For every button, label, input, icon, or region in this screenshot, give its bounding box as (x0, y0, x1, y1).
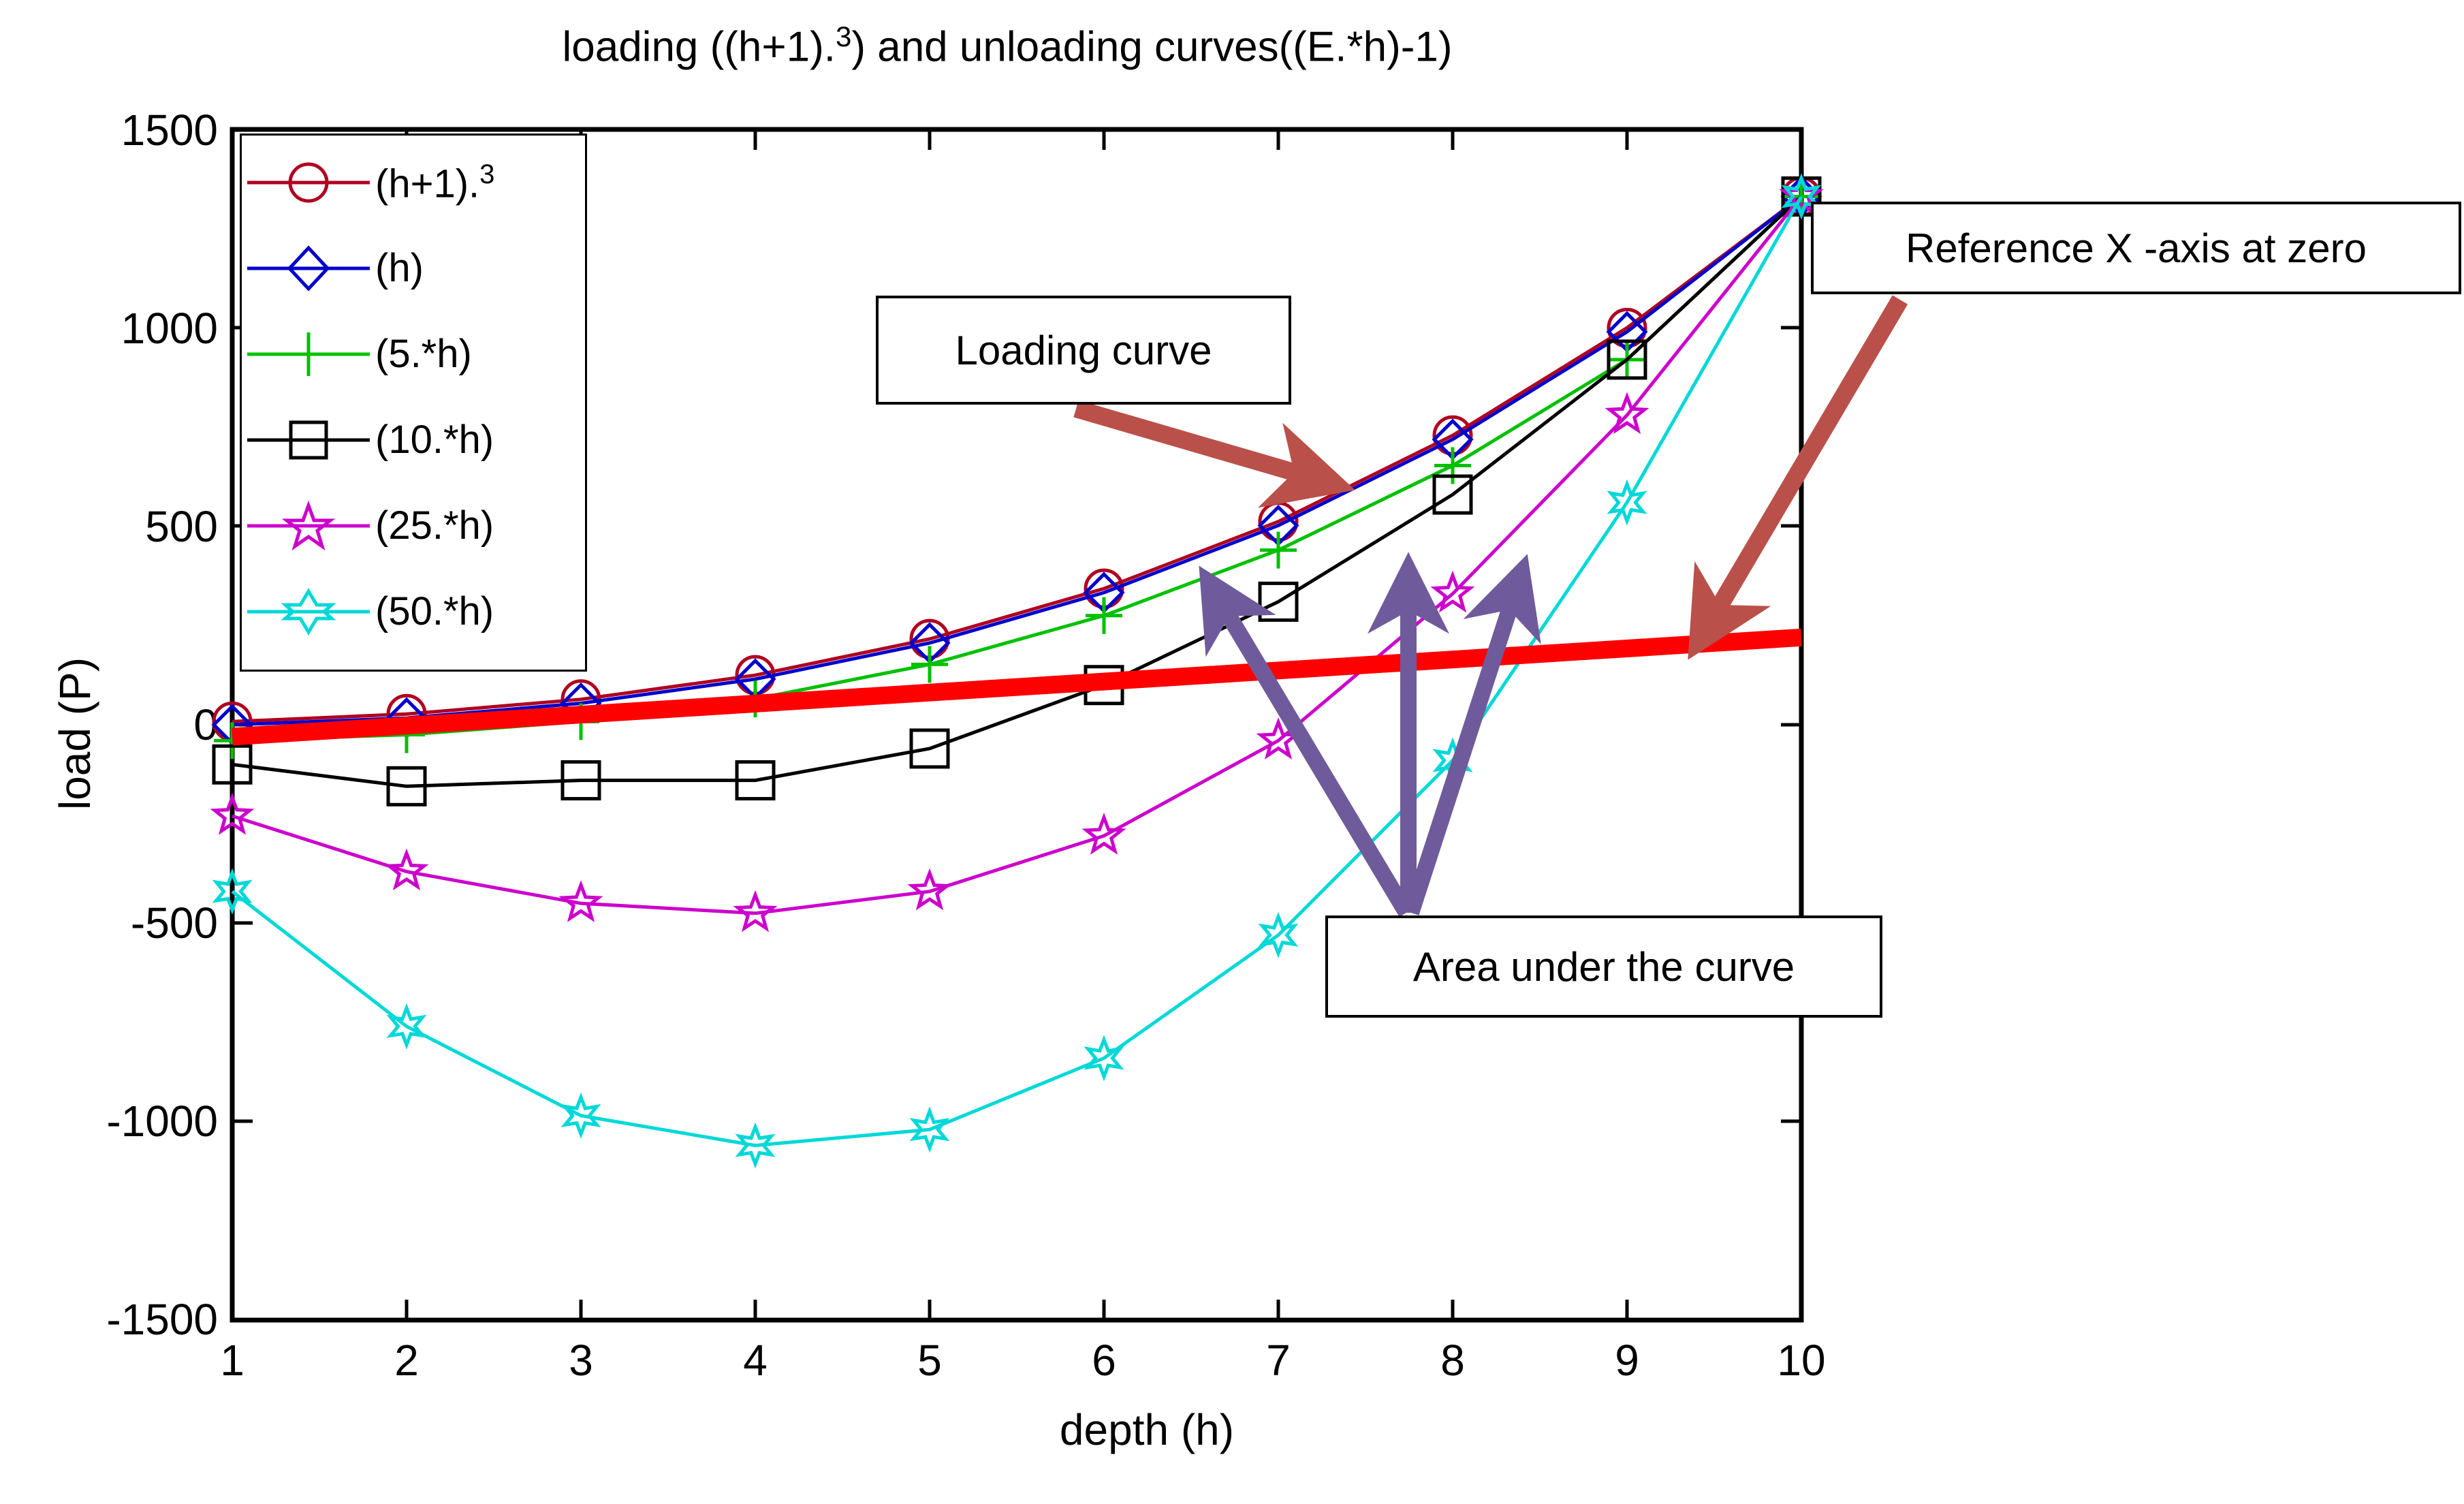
annotation-reference-axis-text: Reference X -axis at zero (1906, 225, 2367, 272)
loading-curve-arrow (1076, 409, 1314, 478)
legend-item-10h[interactable]: (10.*h) (242, 397, 585, 483)
legend-label-5h: (5.*h) (375, 334, 472, 374)
legend-label-50h: (50.*h) (375, 592, 494, 631)
legend-label-10h: (10.*h) (375, 420, 494, 460)
legend-sample-hexagram (242, 569, 375, 655)
annotation-loading-curve-text: Loading curve (955, 327, 1212, 374)
data-point-plus (1434, 448, 1471, 484)
legend-label-25h: (25.*h) (375, 506, 494, 546)
legend-sample-plus (242, 311, 375, 397)
legend-item-25h[interactable]: (25.*h) (242, 483, 585, 569)
annotation-area-under-curve-text: Area under the curve (1413, 943, 1795, 990)
legend[interactable]: (h+1).3 (h) (5.*h) (10.*h) (240, 134, 587, 672)
reference-axis-arrow (1709, 300, 1900, 623)
legend-sample-circle (242, 140, 375, 225)
legend-sample-pentagram (242, 483, 375, 569)
data-point-plus (1260, 532, 1297, 569)
legend-item-h[interactable]: (h) (242, 225, 585, 311)
legend-sample-square (242, 397, 375, 483)
legend-item-5h[interactable]: (5.*h) (242, 311, 585, 397)
figure-canvas: loading ((h+1).3) and unloading curves((… (0, 0, 2464, 1504)
legend-item-h-plus-1-cubed[interactable]: (h+1).3 (242, 140, 585, 225)
legend-item-50h[interactable]: (50.*h) (242, 569, 585, 655)
legend-label-h-plus-1-cubed: (h+1).3 (375, 161, 494, 204)
data-point-pentagram (738, 895, 772, 928)
legend-sample-diamond (242, 225, 375, 311)
data-point-pentagram (563, 885, 598, 918)
annotation-loading-curve[interactable]: Loading curve (876, 296, 1291, 405)
area-arrow-right (1411, 591, 1515, 913)
legend-label-h: (h) (375, 249, 424, 288)
annotation-reference-axis[interactable]: Reference X -axis at zero (1811, 202, 2461, 294)
annotation-area-under-curve[interactable]: Area under the curve (1325, 915, 1882, 1018)
